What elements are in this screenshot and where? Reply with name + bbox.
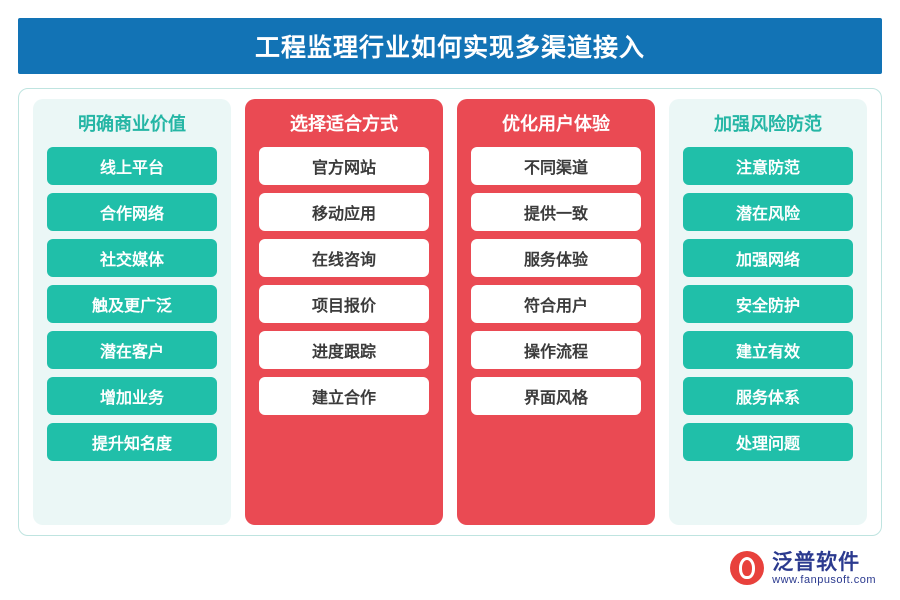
- column-heading: 优化用户体验: [471, 111, 641, 137]
- brand-name-cn: 泛普软件: [772, 551, 876, 574]
- list-item[interactable]: 在线咨询: [259, 239, 429, 277]
- columns-frame: 明确商业价值 线上平台 合作网络 社交媒体 触及更广泛 潜在客户 增加业务 提升…: [18, 88, 882, 536]
- column-user-experience: 优化用户体验 不同渠道 提供一致 服务体验 符合用户 操作流程 界面风格: [457, 99, 655, 525]
- list-item[interactable]: 服务体系: [683, 377, 853, 415]
- list-item[interactable]: 安全防护: [683, 285, 853, 323]
- list-item[interactable]: 项目报价: [259, 285, 429, 323]
- list-item[interactable]: 加强网络: [683, 239, 853, 277]
- column-items: 线上平台 合作网络 社交媒体 触及更广泛 潜在客户 增加业务 提升知名度: [47, 147, 217, 515]
- list-item[interactable]: 社交媒体: [47, 239, 217, 277]
- column-risk-prevention: 加强风险防范 注意防范 潜在风险 加强网络 安全防护 建立有效 服务体系 处理问…: [669, 99, 867, 525]
- list-item[interactable]: 官方网站: [259, 147, 429, 185]
- list-item[interactable]: 服务体验: [471, 239, 641, 277]
- list-item[interactable]: 提升知名度: [47, 423, 217, 461]
- list-item[interactable]: 进度跟踪: [259, 331, 429, 369]
- list-item[interactable]: 提供一致: [471, 193, 641, 231]
- brand-logo: 泛普软件 www.fanpusoft.com: [730, 551, 876, 586]
- column-choose-method: 选择适合方式 官方网站 移动应用 在线咨询 项目报价 进度跟踪 建立合作: [245, 99, 443, 525]
- column-heading: 选择适合方式: [259, 111, 429, 137]
- list-item[interactable]: 建立合作: [259, 377, 429, 415]
- list-item[interactable]: 触及更广泛: [47, 285, 217, 323]
- column-items: 官方网站 移动应用 在线咨询 项目报价 进度跟踪 建立合作: [259, 147, 429, 515]
- brand-text: 泛普软件 www.fanpusoft.com: [772, 551, 876, 586]
- infographic-page: 工程监理行业如何实现多渠道接入 明确商业价值 线上平台 合作网络 社交媒体 触及…: [0, 0, 900, 600]
- list-item[interactable]: 界面风格: [471, 377, 641, 415]
- column-business-value: 明确商业价值 线上平台 合作网络 社交媒体 触及更广泛 潜在客户 增加业务 提升…: [33, 99, 231, 525]
- list-item[interactable]: 处理问题: [683, 423, 853, 461]
- list-item[interactable]: 潜在风险: [683, 193, 853, 231]
- brand-url: www.fanpusoft.com: [772, 574, 876, 586]
- page-title: 工程监理行业如何实现多渠道接入: [255, 28, 645, 64]
- title-banner: 工程监理行业如何实现多渠道接入: [18, 18, 882, 74]
- list-item[interactable]: 操作流程: [471, 331, 641, 369]
- list-item[interactable]: 不同渠道: [471, 147, 641, 185]
- list-item[interactable]: 线上平台: [47, 147, 217, 185]
- list-item[interactable]: 移动应用: [259, 193, 429, 231]
- list-item[interactable]: 注意防范: [683, 147, 853, 185]
- column-heading: 加强风险防范: [683, 111, 853, 137]
- list-item[interactable]: 建立有效: [683, 331, 853, 369]
- leaf-icon: [730, 551, 764, 585]
- list-item[interactable]: 合作网络: [47, 193, 217, 231]
- column-items: 注意防范 潜在风险 加强网络 安全防护 建立有效 服务体系 处理问题: [683, 147, 853, 515]
- list-item[interactable]: 增加业务: [47, 377, 217, 415]
- column-items: 不同渠道 提供一致 服务体验 符合用户 操作流程 界面风格: [471, 147, 641, 515]
- list-item[interactable]: 潜在客户: [47, 331, 217, 369]
- list-item[interactable]: 符合用户: [471, 285, 641, 323]
- column-heading: 明确商业价值: [47, 111, 217, 137]
